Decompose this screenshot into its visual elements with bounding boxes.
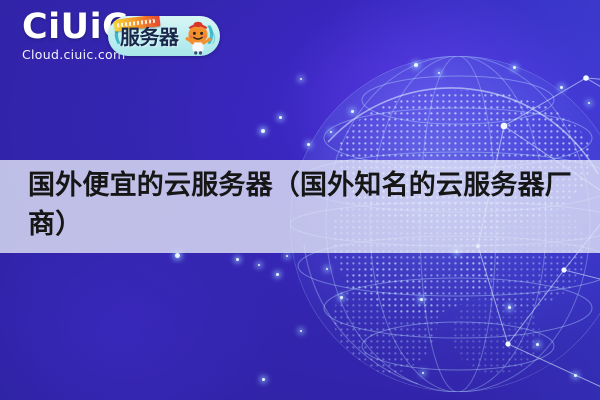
particle [513,66,516,69]
particle [560,86,563,89]
particle [279,116,282,119]
particle [326,268,328,270]
particle [330,131,332,133]
particle [414,63,418,67]
particle [438,72,440,74]
orange-mascot-icon [180,18,216,56]
particle [300,78,302,80]
particle [300,330,302,332]
particle [508,306,511,309]
particle [422,372,424,374]
particle [262,378,265,381]
page-title: 国外便宜的云服务器（国外知名的云服务器厂商） [0,160,600,253]
particle [276,273,279,276]
particle [307,143,310,146]
server-badge[interactable]: ( ) 服务器 [108,16,220,56]
particle [588,102,590,104]
particle [258,264,260,266]
particle [574,374,577,377]
promo-banner: 国外便宜的云服务器（国外知名的云服务器厂商） CiUiC Cloud.ciuic… [0,0,600,400]
particle [236,258,239,261]
badge-label: 服务器 [120,27,179,47]
particle [536,343,539,346]
particle [351,110,354,113]
particle [175,253,180,258]
particle [261,129,265,133]
particle [420,298,423,301]
particle [286,255,288,257]
particle [340,296,343,299]
